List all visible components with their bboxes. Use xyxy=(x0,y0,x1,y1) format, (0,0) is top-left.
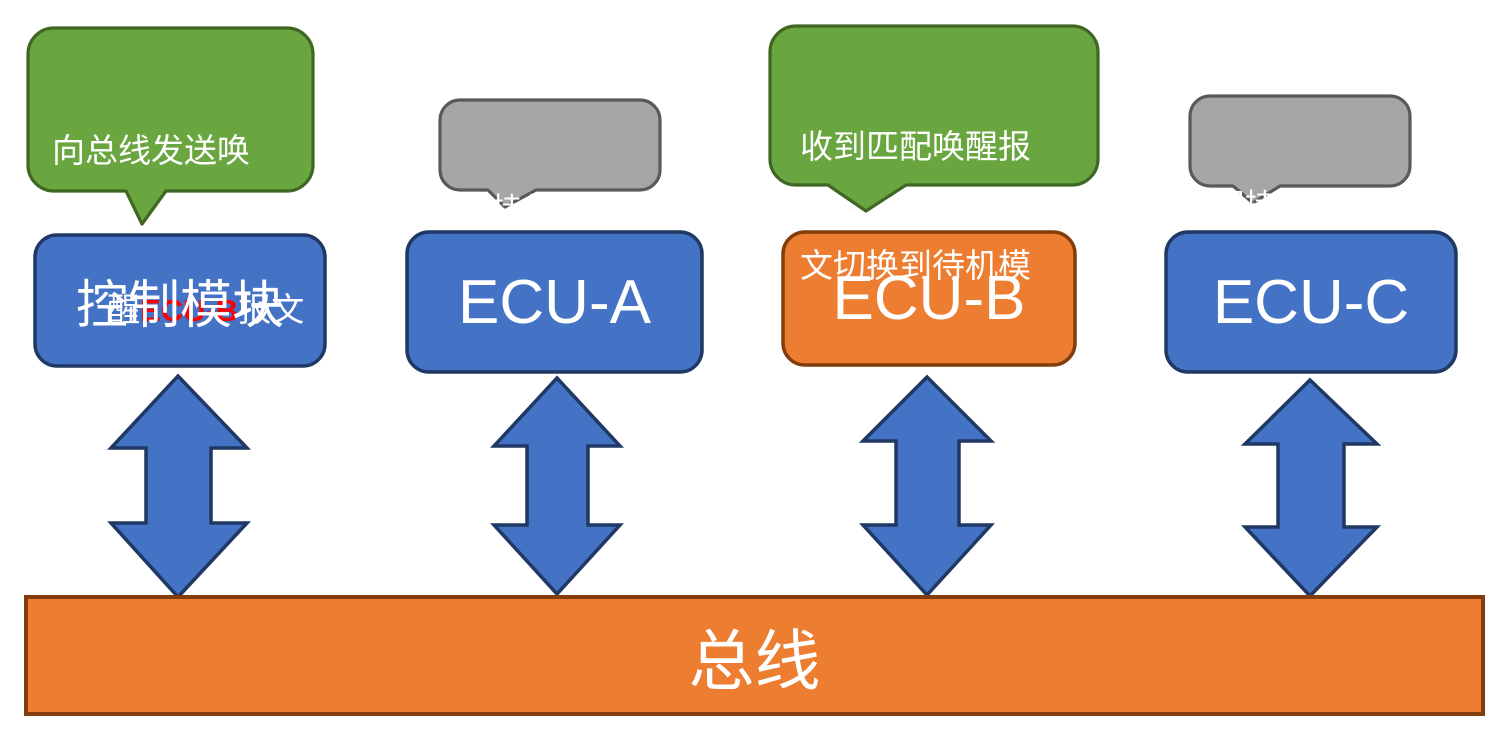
callout-control-module xyxy=(28,28,313,224)
callout-ecu-b-line-1: 收到匹配唤醒报 xyxy=(800,127,1090,167)
diagram-canvas: 向总线发送唤 醒ECU-B报文 保持休眠 收到匹配唤醒报 文切换到待机模 保持休… xyxy=(0,0,1508,741)
node-ecu-c-label: ECU-C xyxy=(1166,232,1456,372)
callout-control-module-label: 向总线发送唤 醒ECU-B报文 xyxy=(52,52,310,448)
bus-bar[interactable] xyxy=(26,597,1483,714)
callout-ecu-b-label: 收到匹配唤醒报 文切换到待机模 xyxy=(800,48,1090,365)
bus-bar-label: 总线 xyxy=(26,597,1483,714)
diagram-shapes-layer xyxy=(0,0,1508,741)
callout-control-module-line-2: 醒ECU-B报文 xyxy=(52,250,310,369)
arrow-ecu-b-bus xyxy=(863,377,991,595)
callout-ecu-c xyxy=(1190,96,1410,203)
callout-ecu-b-line-2: 文切换到待机模 xyxy=(800,246,1090,286)
callout-text-segment: 醒 xyxy=(107,291,140,328)
node-ecu-c[interactable] xyxy=(1166,232,1456,372)
node-ecu-b-label: ECU-B xyxy=(783,232,1075,365)
callout-ecu-b xyxy=(770,26,1098,211)
callout-ecu-c-line-1: 保持休眠 xyxy=(1215,188,1405,224)
arrow-ecu-c-bus xyxy=(1245,380,1377,596)
callout-control-module-line-1: 向总线发送唤 xyxy=(52,131,310,171)
callout-ecu-c-label: 保持休眠 xyxy=(1215,116,1405,296)
callout-text-segment: 报文 xyxy=(238,291,304,328)
arrow-control-module-bus xyxy=(111,376,247,597)
callout-ecu-a xyxy=(440,100,660,207)
callout-ecu-a-label: 保持休眠 xyxy=(462,120,652,300)
node-ecu-a[interactable] xyxy=(407,232,702,372)
node-ecu-b[interactable] xyxy=(783,232,1075,365)
node-ecu-a-label: ECU-A xyxy=(407,232,702,372)
callout-ecu-a-line-1: 保持休眠 xyxy=(462,192,652,228)
node-control-module[interactable] xyxy=(35,235,325,366)
node-control-module-label: 控制模块 xyxy=(35,235,325,366)
callout-highlight-ecu-b: ECU-B xyxy=(140,293,238,328)
arrow-ecu-a-bus xyxy=(494,378,620,594)
